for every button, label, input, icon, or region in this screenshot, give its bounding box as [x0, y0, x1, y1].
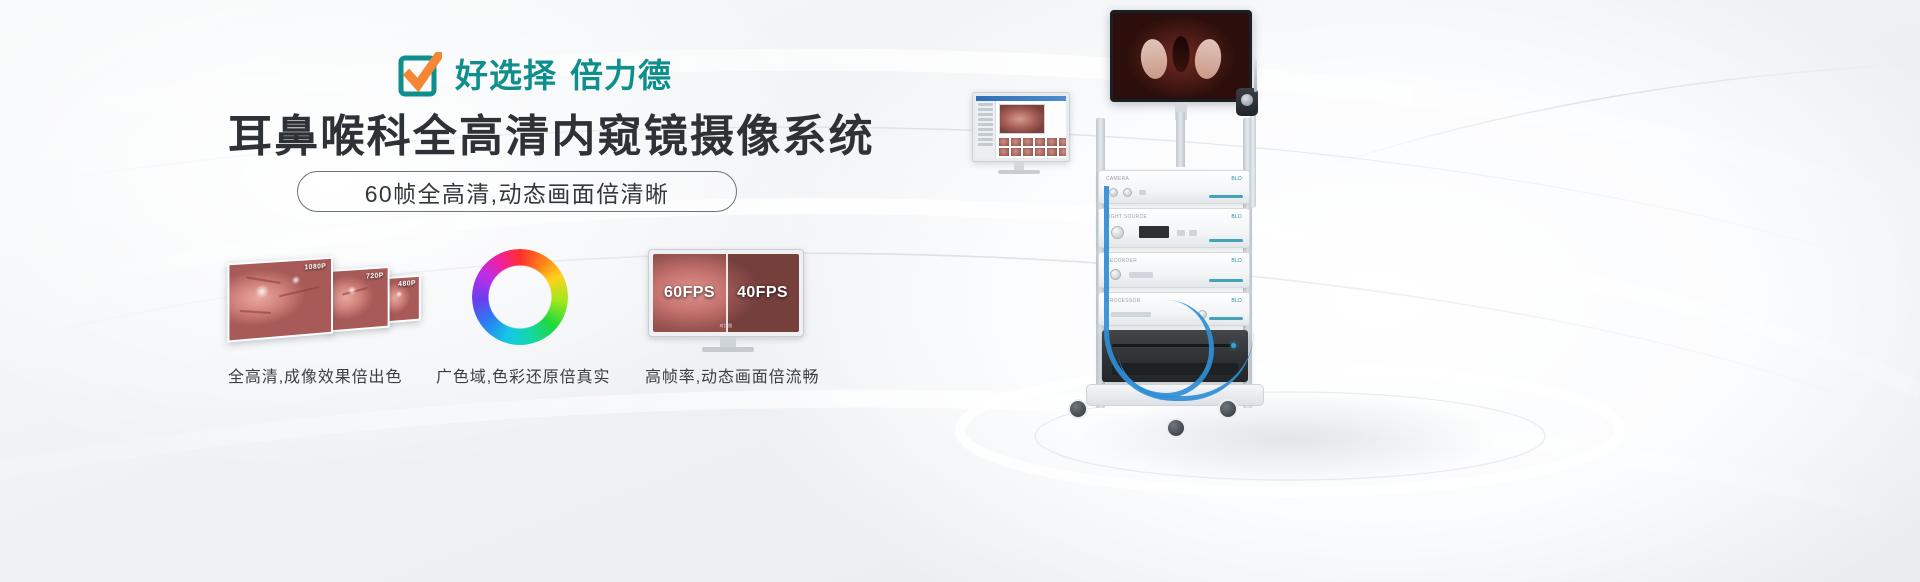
feature-caption-fps: 高帧率,动态画面倍流畅 — [645, 363, 819, 387]
fps-label-left: 60FPS — [664, 284, 715, 302]
feature-row: 1080P 720P 480P 全高清,成像效果倍出色 广色域,色彩还原倍真实 — [0, 243, 900, 383]
workstation-screen — [976, 96, 1066, 158]
cart-caster-left — [1068, 399, 1088, 419]
module-label-1: CAMERA — [1106, 176, 1129, 182]
endoscope-cable-loop — [1118, 300, 1214, 398]
resolution-label-720p: 720P — [366, 272, 384, 280]
fps-screen-note: 对比图 — [720, 323, 733, 329]
fps-monitor-frame: 60FPS 40FPS 对比图 — [648, 249, 804, 337]
workstation-monitor — [972, 92, 1070, 162]
cart-caster-front — [1166, 418, 1186, 438]
feature-caption-color: 广色域,色彩还原倍真实 — [436, 363, 610, 387]
brand-name: 倍力德 — [570, 57, 672, 94]
promo-banner: 好选择倍力德 耳鼻喉科全高清内窥镜摄像系统 60帧全高清,动态画面倍清晰 108… — [0, 0, 1920, 582]
cart-caster-right — [1218, 399, 1238, 419]
workstation-base — [998, 170, 1040, 174]
checkbox-check-icon — [398, 52, 442, 98]
fps-monitor-base — [702, 347, 754, 352]
endoscope-tip — [1254, 58, 1257, 92]
wall-monitor — [1110, 10, 1252, 102]
resolution-screen-720p: 720P — [328, 266, 390, 333]
feature-color-visual — [472, 249, 568, 345]
fps-monitor-screen: 60FPS 40FPS 对比图 — [653, 254, 799, 332]
module-brand-1: BLD — [1231, 176, 1242, 182]
brand-slogan: 好选择 — [455, 57, 557, 94]
resolution-screen-1080p: 1080P — [227, 257, 333, 343]
feature-resolution-visual: 1080P 720P 480P — [228, 243, 408, 363]
page-title: 耳鼻喉科全高清内窥镜摄像系统 — [228, 112, 875, 163]
brand-text: 好选择倍力德 — [455, 59, 672, 92]
wall-monitor-screen — [1113, 13, 1249, 99]
monitor-pole — [1176, 112, 1185, 167]
fps-label-right: 40FPS — [737, 284, 788, 302]
resolution-label-1080p: 1080P — [304, 263, 326, 271]
color-wheel-icon — [472, 249, 568, 345]
resolution-label-480p: 480P — [398, 280, 416, 288]
endoscope-camera-head — [1236, 88, 1258, 116]
subtitle-pill: 60帧全高清,动态画面倍清晰 — [297, 171, 737, 212]
feature-caption-resolution: 全高清,成像效果倍出色 — [228, 363, 402, 387]
feature-fps-visual: 60FPS 40FPS 对比图 — [648, 249, 808, 359]
brand-lockup: 好选择倍力德 — [398, 52, 672, 98]
fps-monitor-neck — [720, 337, 736, 347]
subtitle-text: 60帧全高清,动态画面倍清晰 — [365, 175, 670, 209]
